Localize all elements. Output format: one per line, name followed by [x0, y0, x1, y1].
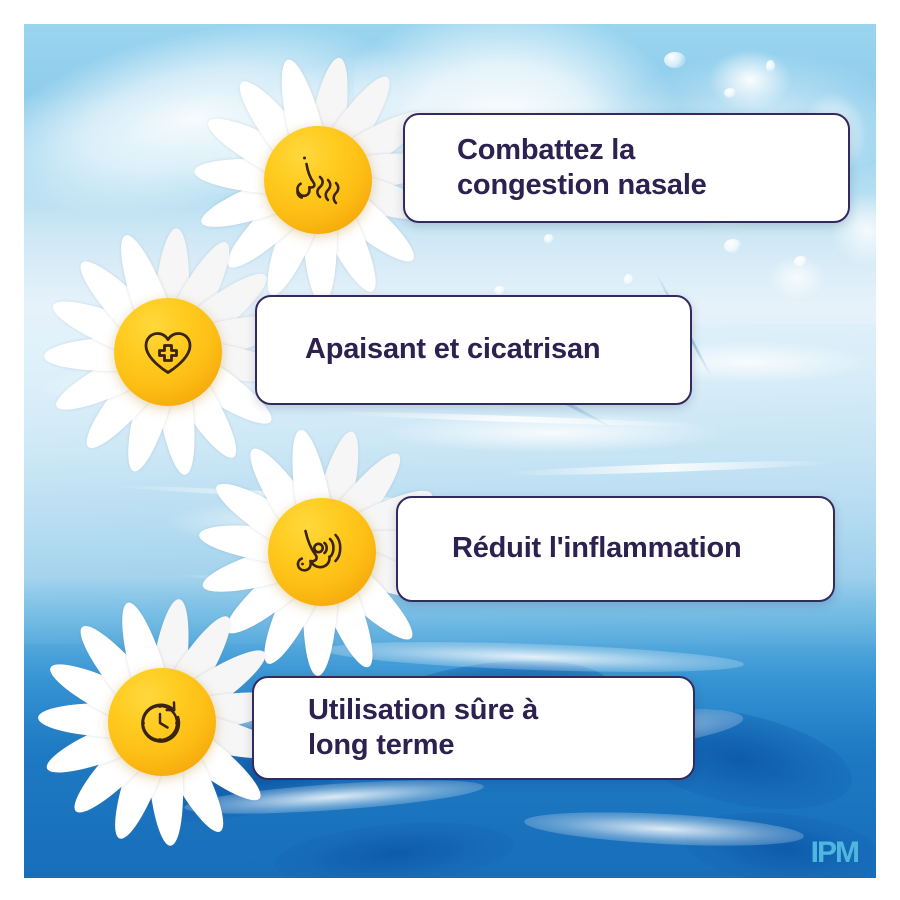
- benefit-card-congestion[interactable]: Combattez la congestion nasale: [403, 113, 850, 223]
- promo-infographic: IPM: [0, 0, 900, 900]
- benefit-card-soothing[interactable]: Apaisant et cicatrisan: [255, 295, 692, 405]
- heart-plus-icon: [137, 321, 199, 383]
- water-droplet: [766, 60, 775, 73]
- water-droplet: [794, 256, 808, 267]
- water-droplet: [494, 286, 506, 295]
- benefit-label-congestion: Combattez la congestion nasale: [457, 133, 707, 204]
- daisy-center-2: [114, 298, 222, 406]
- benefit-card-long-term[interactable]: Utilisation sûre à long terme: [252, 676, 695, 780]
- daisy-center-4: [108, 668, 216, 776]
- water-droplet: [724, 239, 742, 253]
- water-droplet: [624, 274, 633, 286]
- nose-signal-waves-icon: [291, 521, 353, 583]
- brand-logo: IPM: [811, 838, 858, 868]
- water-droplet: [664, 52, 686, 68]
- benefit-label-soothing: Apaisant et cicatrisan: [305, 332, 600, 367]
- benefit-label-inflammation: Réduit l'inflammation: [452, 531, 741, 566]
- clock-refresh-icon: [131, 691, 193, 753]
- water-droplet: [544, 234, 554, 244]
- benefit-card-inflammation[interactable]: Réduit l'inflammation: [396, 496, 835, 602]
- benefit-label-long-term: Utilisation sûre à long terme: [308, 693, 538, 764]
- water-droplet: [724, 88, 737, 98]
- nose-breathing-icon: [287, 149, 349, 211]
